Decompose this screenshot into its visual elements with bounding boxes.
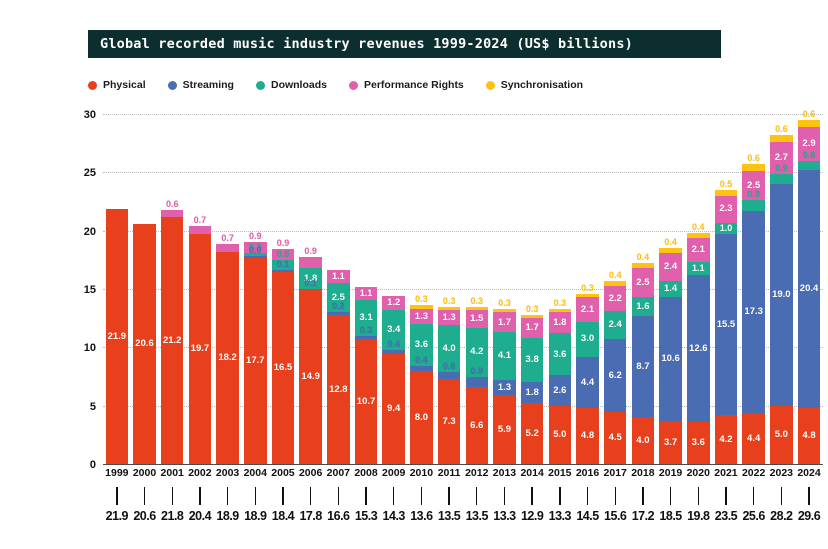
- x-axis-tick: [684, 487, 712, 505]
- bar-value-label: 19.7: [191, 344, 210, 354]
- bar-value-label: 2.3: [719, 204, 732, 214]
- x-axis-label-2015: 2015: [546, 467, 574, 483]
- bar-value-label: 1.1: [692, 264, 705, 273]
- x-axis-label-2012: 2012: [463, 467, 491, 483]
- x-axis-tick: [103, 487, 131, 505]
- tick-mark: [808, 487, 809, 505]
- bar-value-label: 5.0: [775, 430, 788, 440]
- x-axis-label-2013: 2013: [491, 467, 519, 483]
- bar-value-label: 3.0: [581, 334, 594, 344]
- chart-root: Global recorded music industry revenues …: [0, 0, 828, 549]
- bar-value-label: 17.3: [744, 307, 763, 317]
- bar-value-label: 10.6: [661, 354, 680, 364]
- bar-value-label: 3.7: [664, 438, 677, 448]
- x-axis-tick: [241, 487, 269, 505]
- total-value-2014: 12.9: [518, 509, 546, 529]
- bar-value-label: 0.0: [249, 246, 262, 255]
- tick-mark: [116, 487, 117, 505]
- y-axis-tick-label: 25: [84, 167, 96, 179]
- bar-segment-performance-rights-2009[interactable]: 1.2: [382, 296, 405, 310]
- y-axis-tick-label: 20: [84, 226, 96, 238]
- x-axis-tick: [158, 487, 186, 505]
- bar-value-label: 3.8: [526, 355, 539, 365]
- bar-value-label: 0.4: [387, 340, 400, 349]
- total-value-2015: 13.3: [546, 509, 574, 529]
- bar-column-2011[interactable]: 0.31.34.00.67.3: [435, 114, 463, 464]
- bar-value-label: 0.7: [194, 216, 207, 225]
- x-axis-label-2008: 2008: [352, 467, 380, 483]
- bar-segment-performance-rights-2016[interactable]: 2.1: [576, 297, 599, 322]
- x-axis-tick: [574, 487, 602, 505]
- total-value-2013: 13.3: [491, 509, 519, 529]
- x-axis-label-2024: 2024: [795, 467, 823, 483]
- bar-value-label: 0.1: [277, 260, 290, 269]
- tick-mark: [338, 487, 339, 505]
- bar-value-label: 12.6: [689, 344, 708, 354]
- x-axis-ticks: [103, 487, 823, 505]
- bar-segment-downloads-2024[interactable]: 0.8: [798, 161, 821, 170]
- bar-value-label: 0.9: [249, 232, 262, 241]
- bar-segment-physical-2002[interactable]: 19.7: [189, 234, 212, 464]
- x-axis-label-2022: 2022: [740, 467, 768, 483]
- legend-label: Streaming: [183, 79, 234, 91]
- bar-segment-physical-2019[interactable]: 3.7: [659, 421, 682, 464]
- x-axis-label-2011: 2011: [435, 467, 463, 483]
- bar-value-label: 8.7: [636, 362, 649, 372]
- bar-segment-physical-2024[interactable]: 4.8: [798, 408, 821, 464]
- bar-segment-downloads-2021[interactable]: 1.0: [715, 223, 738, 235]
- bar-segment-streaming-2022[interactable]: 17.3: [742, 211, 765, 413]
- bar-value-label: 2.6: [553, 386, 566, 396]
- total-value-2003: 18.9: [214, 509, 242, 529]
- bar-segment-physical-2015[interactable]: 5.0: [549, 406, 572, 464]
- bar-segment-performance-rights-2008[interactable]: 1.1: [355, 287, 378, 300]
- bar-value-label: 4.4: [581, 378, 594, 388]
- legend-item-performance-rights[interactable]: Performance Rights: [349, 79, 464, 91]
- bar-segment-streaming-2023[interactable]: 19.0: [770, 184, 793, 406]
- legend-item-synchronisation[interactable]: Synchronisation: [486, 79, 583, 91]
- bar-segment-downloads-2016[interactable]: 3.0: [576, 322, 599, 357]
- bar-segment-streaming-2018[interactable]: 8.7: [632, 316, 655, 418]
- legend-item-streaming[interactable]: Streaming: [168, 79, 234, 91]
- bar-column-1999[interactable]: 21.9: [103, 114, 131, 464]
- bar-value-label: 9.4: [387, 404, 400, 414]
- tick-mark: [448, 487, 449, 505]
- bar-segment-streaming-2011[interactable]: 0.6: [438, 372, 461, 379]
- tick-mark: [282, 487, 283, 505]
- bar-segment-physical-2017[interactable]: 4.5: [604, 412, 627, 465]
- bar-segment-streaming-2021[interactable]: 15.5: [715, 234, 738, 415]
- bar-segment-physical-2010[interactable]: 8.0: [410, 371, 433, 464]
- bar-segment-downloads-2018[interactable]: 1.6: [632, 297, 655, 316]
- x-axis-label-1999: 1999: [103, 467, 131, 483]
- bar-value-label: 19.0: [772, 290, 791, 300]
- x-axis-tick: [518, 487, 546, 505]
- x-axis-label-2004: 2004: [241, 467, 269, 483]
- bar-segment-performance-rights-2010[interactable]: 1.3: [410, 309, 433, 324]
- bar-column-2015[interactable]: 0.31.83.62.65.0: [546, 114, 574, 464]
- bar-value-label: 0.9: [747, 190, 760, 199]
- bar-value-label: 0.6: [775, 125, 788, 134]
- x-axis-tick: [463, 487, 491, 505]
- bar-segment-physical-2020[interactable]: 3.6: [687, 422, 710, 464]
- bar-column-2017[interactable]: 0.42.22.46.24.5: [601, 114, 629, 464]
- bar-segment-performance-rights-2019[interactable]: 2.4: [659, 253, 682, 281]
- bar-column-2004[interactable]: 0.90.30.017.7: [241, 114, 269, 464]
- x-axis-tick: [186, 487, 214, 505]
- bar-column-2000[interactable]: 20.6: [131, 114, 159, 464]
- bar-segment-downloads-2022[interactable]: 0.9: [742, 200, 765, 211]
- x-axis-tick: [214, 487, 242, 505]
- legend-color-swatch-icon: [168, 81, 177, 90]
- bar-segment-performance-rights-2007[interactable]: 1.1: [327, 270, 350, 283]
- tick-mark: [559, 487, 560, 505]
- x-axis-tick: [629, 487, 657, 505]
- x-axis-label-2023: 2023: [768, 467, 796, 483]
- x-axis-label-2005: 2005: [269, 467, 297, 483]
- bar-value-label: 1.1: [360, 289, 373, 298]
- bar-value-label: 10.7: [357, 397, 376, 407]
- bar-segment-performance-rights-2001[interactable]: 0.6: [161, 210, 184, 217]
- x-axis-label-2017: 2017: [601, 467, 629, 483]
- bar-column-2003[interactable]: 0.718.2: [214, 114, 242, 464]
- bar-value-label: 12.8: [329, 385, 348, 395]
- bar-segment-performance-rights-2013[interactable]: 1.7: [493, 312, 516, 332]
- bar-value-label: 2.4: [609, 320, 622, 330]
- bar-column-2024[interactable]: 0.62.90.820.44.8: [795, 114, 823, 464]
- bar-segment-downloads-2013[interactable]: 4.1: [493, 332, 516, 380]
- legend-color-swatch-icon: [349, 81, 358, 90]
- bar-value-label: 0.6: [803, 110, 816, 119]
- bar-value-label: 0.3: [581, 284, 594, 293]
- bar-segment-streaming-2024[interactable]: 20.4: [798, 170, 821, 408]
- bar-column-2014[interactable]: 0.31.73.81.85.2: [518, 114, 546, 464]
- bar-value-label: 1.1: [332, 272, 345, 281]
- tick-mark: [199, 487, 200, 505]
- total-value-2019: 18.5: [657, 509, 685, 529]
- bar-column-2005[interactable]: 0.90.90.116.5: [269, 114, 297, 464]
- bar-segment-synchronisation-2024[interactable]: 0.6: [798, 120, 821, 127]
- bar-value-label: 15.5: [717, 320, 736, 330]
- tick-mark: [725, 487, 726, 505]
- bar-value-label: 2.1: [692, 245, 705, 255]
- bar-column-2002[interactable]: 0.719.7: [186, 114, 214, 464]
- tick-mark: [310, 487, 311, 505]
- bar-value-label: 4.2: [719, 435, 732, 445]
- bar-value-label: 0.9: [304, 247, 317, 256]
- bar-segment-physical-2013[interactable]: 5.9: [493, 395, 516, 464]
- x-axis-label-2006: 2006: [297, 467, 325, 483]
- total-value-2009: 14.3: [380, 509, 408, 529]
- total-value-2021: 23.5: [712, 509, 740, 529]
- bar-segment-streaming-2017[interactable]: 6.2: [604, 339, 627, 411]
- bar-segment-performance-rights-2014[interactable]: 1.7: [521, 318, 544, 338]
- x-axis-tick: [546, 487, 574, 505]
- bar-segment-performance-rights-2018[interactable]: 2.5: [632, 268, 655, 297]
- bar-column-2010[interactable]: 0.31.33.60.48.0: [408, 114, 436, 464]
- totals-row: 21.920.621.820.418.918.918.417.816.615.3…: [103, 509, 823, 529]
- bar-segment-streaming-2019[interactable]: 10.6: [659, 297, 682, 421]
- bar-segment-performance-rights-2017[interactable]: 2.2: [604, 286, 627, 312]
- tick-mark: [172, 487, 173, 505]
- bar-value-label: 4.8: [581, 431, 594, 441]
- bar-value-label: 1.7: [498, 318, 511, 328]
- page-title: Global recorded music industry revenues …: [100, 36, 633, 52]
- x-axis-tick: [352, 487, 380, 505]
- legend-label: Downloads: [271, 79, 327, 91]
- bar-column-2006[interactable]: 0.91.80.114.9: [297, 114, 325, 464]
- bar-segment-physical-2003[interactable]: 18.2: [216, 252, 239, 464]
- bar-value-label: 0.6: [166, 200, 179, 209]
- bar-segment-performance-rights-2011[interactable]: 1.3: [438, 310, 461, 325]
- x-axis-label-2007: 2007: [325, 467, 353, 483]
- bar-value-label: 21.2: [163, 336, 182, 346]
- tick-mark: [698, 487, 699, 505]
- bar-value-label: 3.4: [387, 325, 400, 335]
- total-value-2011: 13.5: [435, 509, 463, 529]
- bar-segment-performance-rights-2002[interactable]: 0.7: [189, 226, 212, 234]
- tick-mark: [615, 487, 616, 505]
- bar-value-label: 1.8: [553, 318, 566, 328]
- bar-segment-physical-2004[interactable]: 17.7: [244, 258, 267, 465]
- total-value-2006: 17.8: [297, 509, 325, 529]
- bar-column-2007[interactable]: 1.12.50.212.8: [325, 114, 353, 464]
- tick-mark: [227, 487, 228, 505]
- bar-column-2019[interactable]: 0.42.41.410.63.7: [657, 114, 685, 464]
- x-axis-label-2014: 2014: [518, 467, 546, 483]
- bar-segment-physical-2000[interactable]: 20.6: [133, 224, 156, 464]
- bar-value-label: 21.9: [108, 332, 127, 342]
- legend-label: Performance Rights: [364, 79, 464, 91]
- bar-segment-physical-2009[interactable]: 9.4: [382, 354, 405, 464]
- x-axis-label-2021: 2021: [712, 467, 740, 483]
- x-axis-tick: [408, 487, 436, 505]
- bar-value-label: 1.3: [415, 312, 428, 322]
- tick-mark: [670, 487, 671, 505]
- bar-segment-synchronisation-2022[interactable]: 0.6: [742, 164, 765, 171]
- bar-segment-performance-rights-2012[interactable]: 1.5: [466, 310, 489, 328]
- bar-segment-streaming-2016[interactable]: 4.4: [576, 357, 599, 408]
- total-value-2001: 21.8: [158, 509, 186, 529]
- bar-segment-performance-rights-2015[interactable]: 1.8: [549, 312, 572, 333]
- bar-value-label: 0.3: [498, 299, 511, 308]
- bar-segment-physical-2023[interactable]: 5.0: [770, 406, 793, 464]
- bar-value-label: 2.7: [775, 153, 788, 163]
- bar-value-label: 0.9: [775, 164, 788, 173]
- bar-group: 21.920.60.621.20.719.70.718.20.90.30.017…: [103, 114, 823, 464]
- tick-mark: [642, 487, 643, 505]
- bar-segment-performance-rights-2006[interactable]: 0.9: [299, 257, 322, 268]
- x-axis-tick: [435, 487, 463, 505]
- x-axis-tick: [601, 487, 629, 505]
- bar-value-label: 3.1: [359, 313, 372, 323]
- bar-segment-physical-2012[interactable]: 6.6: [466, 387, 489, 464]
- bar-value-label: 0.3: [554, 299, 567, 308]
- tick-mark: [421, 487, 422, 505]
- bar-segment-physical-2022[interactable]: 4.4: [742, 413, 765, 464]
- bar-value-label: 3.6: [415, 340, 428, 350]
- bar-column-2018[interactable]: 0.42.51.68.74.0: [629, 114, 657, 464]
- total-value-1999: 21.9: [103, 509, 131, 529]
- bar-value-label: 0.4: [637, 253, 650, 262]
- x-axis-label-2016: 2016: [574, 467, 602, 483]
- bar-segment-streaming-2012[interactable]: 0.9: [466, 377, 489, 388]
- bar-value-label: 18.2: [218, 353, 237, 363]
- bar-value-label: 1.3: [498, 383, 511, 393]
- x-axis-tick: [325, 487, 353, 505]
- total-value-2017: 15.6: [601, 509, 629, 529]
- bar-value-label: 4.1: [498, 351, 511, 361]
- bar-segment-physical-2014[interactable]: 5.2: [521, 403, 544, 464]
- bar-value-label: 0.3: [443, 297, 456, 306]
- bar-value-label: 0.9: [277, 239, 290, 248]
- tick-mark: [476, 487, 477, 505]
- total-value-2022: 25.6: [740, 509, 768, 529]
- bar-column-2023[interactable]: 0.62.70.919.05.0: [768, 114, 796, 464]
- bar-column-2001[interactable]: 0.621.2: [158, 114, 186, 464]
- bar-segment-downloads-2020[interactable]: 1.1: [687, 262, 710, 275]
- bar-value-label: 0.4: [415, 356, 428, 365]
- bar-segment-downloads-2017[interactable]: 2.4: [604, 311, 627, 339]
- bar-value-label: 4.2: [470, 347, 483, 357]
- total-value-2010: 13.6: [408, 509, 436, 529]
- bar-value-label: 0.8: [803, 151, 816, 160]
- chart-title-bar: Global recorded music industry revenues …: [88, 30, 721, 58]
- bar-segment-physical-2018[interactable]: 4.0: [632, 417, 655, 464]
- bar-segment-physical-2001[interactable]: 21.2: [161, 217, 184, 464]
- bar-segment-streaming-2020[interactable]: 12.6: [687, 275, 710, 422]
- bar-value-label: 2.5: [636, 278, 649, 288]
- bar-value-label: 5.9: [498, 425, 511, 435]
- tick-mark: [393, 487, 394, 505]
- bar-segment-downloads-2014[interactable]: 3.8: [521, 338, 544, 382]
- bar-segment-physical-2008[interactable]: 10.7: [355, 339, 378, 464]
- bar-segment-physical-2011[interactable]: 7.3: [438, 379, 461, 464]
- legend-color-swatch-icon: [256, 81, 265, 90]
- bar-value-label: 0.4: [692, 223, 705, 232]
- total-value-2024: 29.6: [795, 509, 823, 529]
- x-axis-tick: [269, 487, 297, 505]
- bar-segment-physical-2016[interactable]: 4.8: [576, 408, 599, 464]
- bar-column-2022[interactable]: 0.62.50.917.34.4: [740, 114, 768, 464]
- bar-segment-physical-2021[interactable]: 4.2: [715, 415, 738, 464]
- total-value-2023: 28.2: [768, 509, 796, 529]
- bar-value-label: 0.6: [747, 154, 760, 163]
- plot-area: 051015202530 21.920.60.621.20.719.70.718…: [103, 114, 823, 464]
- legend-color-swatch-icon: [486, 81, 495, 90]
- bar-value-label: 4.0: [636, 436, 649, 446]
- legend-color-swatch-icon: [88, 81, 97, 90]
- bar-value-label: 1.8: [526, 388, 539, 398]
- bar-value-label: 2.1: [581, 305, 594, 315]
- x-axis-label-2003: 2003: [214, 467, 242, 483]
- total-value-2007: 16.6: [325, 509, 353, 529]
- bar-segment-performance-rights-2021[interactable]: 2.3: [715, 196, 738, 223]
- total-value-2000: 20.6: [131, 509, 159, 529]
- total-value-2004: 18.9: [241, 509, 269, 529]
- total-value-2002: 20.4: [186, 509, 214, 529]
- bar-column-2008[interactable]: 1.13.10.310.7: [352, 114, 380, 464]
- bar-segment-physical-2005[interactable]: 16.5: [272, 272, 295, 465]
- bar-value-label: 0.3: [471, 297, 484, 306]
- x-axis-tick: [768, 487, 796, 505]
- bar-value-label: 0.5: [720, 180, 733, 189]
- chart-legend: PhysicalStreamingDownloadsPerformance Ri…: [88, 77, 605, 93]
- bar-segment-streaming-2015[interactable]: 2.6: [549, 375, 572, 405]
- legend-item-physical[interactable]: Physical: [88, 79, 146, 91]
- total-value-2016: 14.5: [574, 509, 602, 529]
- x-axis-tick: [491, 487, 519, 505]
- bar-value-label: 5.0: [553, 430, 566, 440]
- bar-value-label: 3.6: [692, 438, 705, 448]
- bar-segment-performance-rights-2020[interactable]: 2.1: [687, 238, 710, 263]
- bar-column-2016[interactable]: 0.32.13.04.44.8: [574, 114, 602, 464]
- bar-value-label: 0.3: [526, 305, 539, 314]
- x-axis-label-2002: 2002: [186, 467, 214, 483]
- gridline-0: 0: [103, 464, 823, 465]
- bar-value-label: 0.1: [304, 279, 317, 288]
- total-value-2018: 17.2: [629, 509, 657, 529]
- x-axis-tick: [131, 487, 159, 505]
- x-axis-tick: [795, 487, 823, 505]
- bar-value-label: 4.5: [609, 433, 622, 443]
- bar-value-label: 3.6: [553, 350, 566, 360]
- x-axis-label-2001: 2001: [158, 467, 186, 483]
- bar-segment-downloads-2023[interactable]: 0.9: [770, 174, 793, 185]
- x-axis-label-2000: 2000: [131, 467, 159, 483]
- x-axis-label-2018: 2018: [629, 467, 657, 483]
- bar-value-label: 4.8: [802, 431, 815, 441]
- tick-mark: [255, 487, 256, 505]
- bar-column-2012[interactable]: 0.31.54.20.96.6: [463, 114, 491, 464]
- bar-value-label: 2.2: [609, 294, 622, 304]
- bar-column-2021[interactable]: 0.52.31.015.54.2: [712, 114, 740, 464]
- bar-value-label: 20.4: [800, 284, 819, 294]
- bar-value-label: 8.0: [415, 413, 428, 423]
- bar-segment-downloads-2019[interactable]: 1.4: [659, 281, 682, 297]
- x-axis-tick: [712, 487, 740, 505]
- y-axis-tick-label: 15: [84, 284, 96, 296]
- bar-segment-synchronisation-2023[interactable]: 0.6: [770, 135, 793, 142]
- bar-value-label: 1.3: [442, 313, 455, 323]
- tick-mark: [781, 487, 782, 505]
- bar-segment-streaming-2013[interactable]: 1.3: [493, 380, 516, 395]
- bar-value-label: 2.4: [664, 262, 677, 272]
- bar-value-label: 1.7: [526, 323, 539, 333]
- bar-value-label: 5.2: [526, 429, 539, 439]
- bar-segment-downloads-2015[interactable]: 3.6: [549, 333, 572, 375]
- bar-segment-physical-2006[interactable]: 14.9: [299, 290, 322, 464]
- bar-value-label: 1.5: [470, 314, 483, 324]
- bar-value-label: 4.4: [747, 434, 760, 444]
- bar-value-label: 16.5: [274, 363, 293, 373]
- x-axis-tick: [380, 487, 408, 505]
- bar-value-label: 0.2: [332, 302, 345, 311]
- bar-value-label: 1.0: [720, 224, 733, 233]
- legend-item-downloads[interactable]: Downloads: [256, 79, 327, 91]
- x-axis-tick: [740, 487, 768, 505]
- tick-mark: [531, 487, 532, 505]
- bar-column-2013[interactable]: 0.31.74.11.35.9: [491, 114, 519, 464]
- bar-segment-physical-1999[interactable]: 21.9: [106, 209, 129, 465]
- bar-segment-streaming-2014[interactable]: 1.8: [521, 382, 544, 403]
- bar-segment-performance-rights-2003[interactable]: 0.7: [216, 244, 239, 252]
- legend-label: Physical: [103, 79, 146, 91]
- bar-column-2009[interactable]: 1.23.40.49.4: [380, 114, 408, 464]
- bar-value-label: 0.3: [360, 326, 373, 335]
- bar-segment-physical-2007[interactable]: 12.8: [327, 315, 350, 464]
- bar-column-2020[interactable]: 0.42.11.112.63.6: [684, 114, 712, 464]
